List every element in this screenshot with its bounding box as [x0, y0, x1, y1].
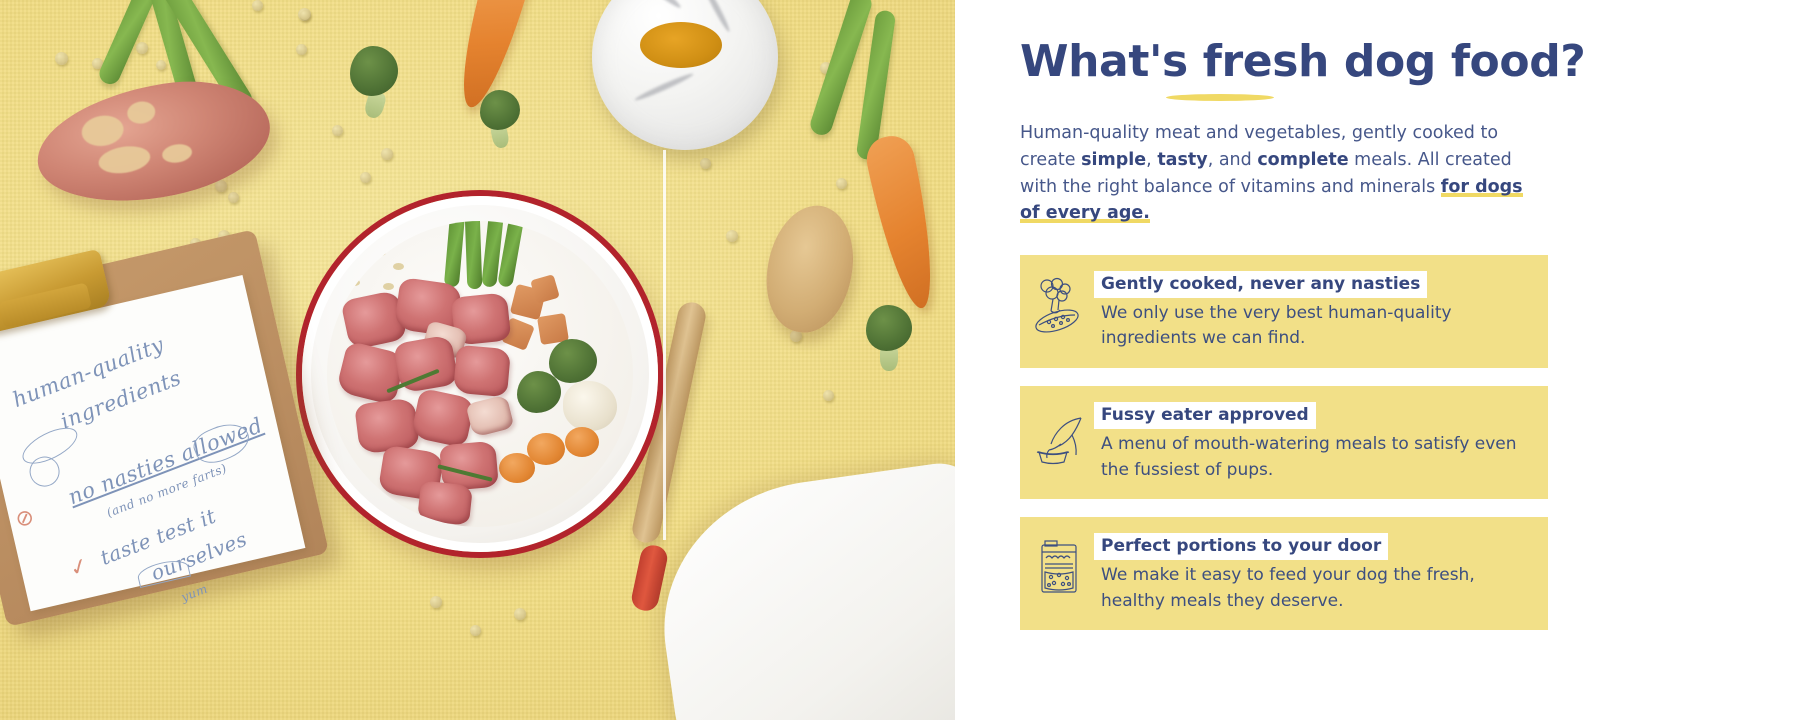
plate-contents [327, 221, 633, 527]
feature-card: Gently cooked, never any nasties We only… [1020, 255, 1548, 368]
content-inner: What's fresh dog food? Human-quality mea… [1020, 38, 1548, 630]
intro-sep-1: , [1146, 150, 1157, 170]
dinner-plate [302, 196, 658, 552]
feature-card-text: We make it easy to feed your dog the fre… [1094, 563, 1532, 614]
feature-cards: Gently cooked, never any nasties We only… [1020, 255, 1548, 630]
hero-photo: ✓ human-quality ingredients ⊘ no nasties… [0, 0, 955, 720]
pea [836, 178, 847, 189]
feature-card-text: We only use the very best human-quality … [1094, 301, 1532, 352]
pea [514, 608, 526, 620]
check-icon: ✓ [0, 385, 9, 415]
intro-bold-tasty: tasty [1157, 150, 1207, 170]
feature-card-title: Gently cooked, never any nasties [1094, 271, 1427, 298]
pea [300, 10, 310, 20]
pea [228, 192, 239, 203]
pea [332, 125, 343, 136]
page-root: ✓ human-quality ingredients ⊘ no nasties… [0, 0, 1802, 720]
photo-seam-line [663, 150, 666, 540]
photo-canvas: ✓ human-quality ingredients ⊘ no nasties… [0, 0, 955, 720]
feature-card-text: A menu of mouth-watering meals to satisf… [1094, 432, 1532, 483]
pea [726, 230, 738, 242]
feature-card-body: Perfect portions to your door We make it… [1094, 531, 1532, 614]
pea [296, 44, 307, 55]
no-entry-icon: ⊘ [12, 504, 38, 534]
food-pouch-icon [1030, 537, 1088, 599]
heading-wrap: What's fresh dog food? [1020, 38, 1548, 86]
feature-card-body: Gently cooked, never any nasties We only… [1094, 269, 1532, 352]
feature-card-body: Fussy eater approved A menu of mouth-wat… [1094, 400, 1532, 483]
pea [55, 52, 68, 65]
intro-bold-complete: complete [1257, 150, 1348, 170]
pea [470, 625, 481, 636]
feature-card: Fussy eater approved A menu of mouth-wat… [1020, 386, 1548, 499]
check-icon: ✓ [66, 553, 92, 583]
pea [215, 180, 227, 192]
heading-underline-accent [1166, 94, 1274, 101]
intro-bold-simple: simple [1081, 150, 1146, 170]
page-title: What's fresh dog food? [1020, 38, 1548, 86]
pea [252, 0, 263, 11]
pea [156, 60, 166, 70]
intro-paragraph: Human-quality meat and vegetables, gentl… [1020, 120, 1548, 226]
feature-card-title: Perfect portions to your door [1094, 533, 1388, 560]
pea [381, 148, 393, 160]
intro-sep-2: , and [1208, 150, 1258, 170]
dog-eating-bowl-icon [1030, 406, 1088, 468]
broccoli-peapod-icon [1030, 275, 1088, 337]
doodle-bowl-icon [136, 557, 191, 588]
feature-card-title: Fussy eater approved [1094, 402, 1316, 429]
pea [360, 172, 371, 183]
pea [430, 596, 442, 608]
feature-card: Perfect portions to your door We make it… [1020, 517, 1548, 630]
pea [136, 42, 148, 54]
turmeric-spice [640, 22, 722, 68]
content-panel: What's fresh dog food? Human-quality mea… [955, 0, 1802, 720]
pea [700, 158, 711, 169]
clipboard-paper: ✓ human-quality ingredients ⊘ no nasties… [0, 275, 305, 611]
pea [823, 390, 834, 401]
